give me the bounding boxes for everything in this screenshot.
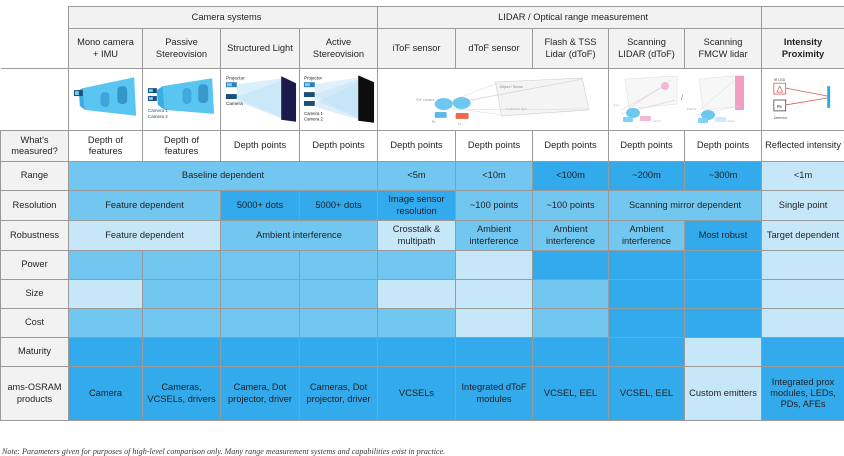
cell-power-intensity-proximity: [762, 251, 844, 280]
cell-products-flash-tss: VCSEL, EEL: [533, 367, 609, 421]
cell-whats-measured-passive-stereovision: Depth of features: [143, 131, 221, 162]
group-header-blank: [1, 7, 69, 29]
row-maturity: Maturity: [1, 338, 844, 367]
cell-cost-mono-camera: [69, 309, 143, 338]
cell-whats-measured-mono-camera: Depth of features: [69, 131, 143, 162]
column-header-scanning-lidar: Scanning LIDAR (dToF): [609, 29, 685, 69]
cell-size-structured-light: [221, 280, 300, 309]
column-header-passive-stereovision: Passive Stereovision: [143, 29, 221, 69]
cell-robustness-structured-active-pair: Ambient interference: [221, 221, 378, 251]
column-header-mono-camera-imu: Mono camera + IMU: [69, 29, 143, 69]
group-header-camera-systems: Camera systems: [69, 7, 378, 29]
cell-whats-measured-itof: Depth points: [378, 131, 456, 162]
row-label-resolution: Resolution: [1, 191, 69, 221]
cell-power-itof: [378, 251, 456, 280]
row-range: Range Baseline dependent <5m <10m <100m …: [1, 162, 844, 191]
itof-diagram: Object / Scene iToF camera Rx Tx: [378, 70, 608, 130]
cell-whats-measured-dtof: Depth points: [456, 131, 533, 162]
cell-cost-intensity-proximity: [762, 309, 844, 338]
cell-resolution-active-stereovision: 5000+ dots: [300, 191, 378, 221]
cell-range-itof: <5m: [378, 162, 456, 191]
row-resolution: Resolution Feature dependent 5000+ dots …: [1, 191, 844, 221]
cell-power-mono-camera: [69, 251, 143, 280]
cell-products-intensity-proximity: Integrated prox modules, LEDs, PDs, AFEs: [762, 367, 844, 421]
svg-text:iToF camera: iToF camera: [416, 97, 435, 101]
cell-size-fmcw: [685, 280, 762, 309]
svg-text:Camera 2: Camera 2: [304, 116, 324, 121]
cell-resolution-camera-pair: Feature dependent: [69, 191, 221, 221]
row-label-range: Range: [1, 162, 69, 191]
cell-range-intensity-proximity: <1m: [762, 162, 844, 191]
comparison-matrix-page: Camera systems LIDAR / Optical range mea…: [0, 0, 844, 456]
illustration-row: Camera 1 Camera 2 Projector Camera: [1, 69, 844, 131]
cell-robustness-dtof: Ambient interference: [456, 221, 533, 251]
intensity-proximity-diagram: IR LED Rx Detector: [762, 70, 844, 130]
row-label-maturity: Maturity: [1, 338, 69, 367]
svg-text:IR LED: IR LED: [774, 78, 786, 82]
row-ams-osram-products: ams-OSRAM products Camera Cameras, VCSEL…: [1, 367, 844, 421]
cell-cost-structured-light: [221, 309, 300, 338]
cell-cost-passive-stereovision: [143, 309, 221, 338]
cell-resolution-dtof: ~100 points: [456, 191, 533, 221]
cell-maturity-dtof: [456, 338, 533, 367]
mono-camera-diagram: [69, 70, 142, 130]
cell-cost-flash-tss: [533, 309, 609, 338]
column-header-flash-tss-lidar: Flash & TSS Lidar (dToF): [533, 29, 609, 69]
svg-text:Tx: Tx: [458, 121, 462, 125]
svg-text:Projector: Projector: [304, 75, 323, 80]
cell-size-active-stereovision: [300, 280, 378, 309]
svg-text:/: /: [681, 95, 683, 102]
svg-text:target: target: [727, 119, 735, 123]
svg-text:Detector: Detector: [774, 115, 788, 119]
illustration-itof-dtof-flash: Object / Scene iToF camera Rx Tx: [378, 69, 609, 131]
cell-maturity-intensity-proximity: [762, 338, 844, 367]
svg-text:Camera 2: Camera 2: [148, 113, 168, 118]
cell-robustness-fmcw: Most robust: [685, 221, 762, 251]
column-header-blank: [1, 29, 69, 69]
cell-whats-measured-fmcw: Depth points: [685, 131, 762, 162]
svg-text:scan: scan: [613, 103, 620, 107]
cell-whats-measured-flash-tss: Depth points: [533, 131, 609, 162]
cell-size-intensity-proximity: [762, 280, 844, 309]
cell-products-passive-stereovision: Cameras, VCSELs, drivers: [143, 367, 221, 421]
cell-robustness-scanning-lidar: Ambient interference: [609, 221, 685, 251]
group-header-intensity-spacer: [762, 7, 844, 29]
row-cost: Cost: [1, 309, 844, 338]
illustration-scanning-lidar-fmcw: scan mirror / FMCW target: [609, 69, 762, 131]
column-header-itof-sensor: iToF sensor: [378, 29, 456, 69]
cell-power-structured-light: [221, 251, 300, 280]
cell-maturity-fmcw: [685, 338, 762, 367]
row-robustness: Robustness Feature dependent Ambient int…: [1, 221, 844, 251]
cell-size-mono-camera: [69, 280, 143, 309]
cell-maturity-structured-light: [221, 338, 300, 367]
cell-power-scanning-lidar: [609, 251, 685, 280]
cell-size-scanning-lidar: [609, 280, 685, 309]
cell-cost-fmcw: [685, 309, 762, 338]
svg-text:Rx: Rx: [777, 103, 783, 108]
cell-robustness-flash-tss: Ambient interference: [533, 221, 609, 251]
footnote: Note: Parameters given for purposes of h…: [2, 447, 445, 456]
cell-size-dtof: [456, 280, 533, 309]
cell-products-structured-light: Camera, Dot projector, driver: [221, 367, 300, 421]
column-header-dtof-sensor: dToF sensor: [456, 29, 533, 69]
cell-power-active-stereovision: [300, 251, 378, 280]
cell-robustness-itof: Crosstalk & multipath: [378, 221, 456, 251]
cell-cost-active-stereovision: [300, 309, 378, 338]
row-label-cost: Cost: [1, 309, 69, 338]
cell-products-scanning-lidar: VCSEL, EEL: [609, 367, 685, 421]
group-header-row: Camera systems LIDAR / Optical range mea…: [1, 7, 844, 29]
cell-maturity-scanning-lidar: [609, 338, 685, 367]
cell-range-scanning-lidar: ~200m: [609, 162, 685, 191]
row-size: Size: [1, 280, 844, 309]
cell-products-active-stereovision: Cameras, Dot projector, driver: [300, 367, 378, 421]
column-header-intensity-proximity: Intensity Proximity: [762, 29, 844, 69]
row-label-robustness: Robustness: [1, 221, 69, 251]
illustration-mono-camera: [69, 69, 143, 131]
column-header-structured-light: Structured Light: [221, 29, 300, 69]
range-measurement-comparison-table: Camera systems LIDAR / Optical range mea…: [0, 6, 844, 421]
cell-maturity-flash-tss: [533, 338, 609, 367]
row-label-power: Power: [1, 251, 69, 280]
row-label-whats-measured: What's measured?: [1, 131, 69, 162]
svg-text:Object / Scene: Object / Scene: [499, 85, 522, 89]
svg-text:Camera 1: Camera 1: [304, 110, 324, 115]
svg-text:modulated light: modulated light: [505, 106, 527, 110]
row-whats-measured: What's measured? Depth of features Depth…: [1, 131, 844, 162]
cell-cost-itof: [378, 309, 456, 338]
row-label-ams-osram-products: ams-OSRAM products: [1, 367, 69, 421]
cell-robustness-intensity-proximity: Target dependent: [762, 221, 844, 251]
cell-size-itof: [378, 280, 456, 309]
column-header-row: Mono camera + IMU Passive Stereovision S…: [1, 29, 844, 69]
cell-power-flash-tss: [533, 251, 609, 280]
cell-robustness-camera-pair: Feature dependent: [69, 221, 221, 251]
cell-maturity-mono-camera: [69, 338, 143, 367]
cell-power-dtof: [456, 251, 533, 280]
column-header-active-stereovision: Active Stereovision: [300, 29, 378, 69]
cell-resolution-intensity-proximity: Single point: [762, 191, 844, 221]
cell-resolution-flash-tss: ~100 points: [533, 191, 609, 221]
row-power: Power: [1, 251, 844, 280]
illustration-blank: [1, 69, 69, 131]
svg-text:Camera 1: Camera 1: [148, 107, 168, 112]
row-label-size: Size: [1, 280, 69, 309]
cell-products-dtof: Integrated dToF modules: [456, 367, 533, 421]
cell-whats-measured-active-stereovision: Depth points: [300, 131, 378, 162]
illustration-passive-stereovision: Camera 1 Camera 2: [143, 69, 221, 131]
cell-products-mono-camera: Camera: [69, 367, 143, 421]
active-stereovision-diagram: Projector Camera 1 Camera 2: [300, 70, 377, 130]
scanning-lidar-diagram: scan mirror / FMCW target: [609, 70, 761, 130]
column-header-scanning-fmcw-lidar: Scanning FMCW lidar: [685, 29, 762, 69]
cell-power-fmcw: [685, 251, 762, 280]
cell-whats-measured-scanning-lidar: Depth points: [609, 131, 685, 162]
illustration-active-stereovision: Projector Camera 1 Camera 2: [300, 69, 378, 131]
svg-text:Rx: Rx: [432, 119, 436, 123]
illustration-intensity-proximity: IR LED Rx Detector: [762, 69, 844, 131]
illustration-structured-light: Projector Camera: [221, 69, 300, 131]
cell-whats-measured-intensity-proximity: Reflected intensity: [762, 131, 844, 162]
cell-power-passive-stereovision: [143, 251, 221, 280]
svg-text:mirror: mirror: [653, 119, 661, 123]
cell-resolution-structured-light: 5000+ dots: [221, 191, 300, 221]
cell-cost-dtof: [456, 309, 533, 338]
cell-resolution-itof: Image sensor resolution: [378, 191, 456, 221]
cell-products-fmcw: Custom emitters: [685, 367, 762, 421]
cell-size-flash-tss: [533, 280, 609, 309]
cell-range-fmcw: ~300m: [685, 162, 762, 191]
cell-maturity-active-stereovision: [300, 338, 378, 367]
passive-stereovision-diagram: Camera 1 Camera 2: [143, 70, 220, 130]
cell-range-dtof: <10m: [456, 162, 533, 191]
svg-text:Camera: Camera: [226, 100, 243, 106]
group-header-lidar-optical: LIDAR / Optical range measurement: [378, 7, 762, 29]
cell-resolution-scanning-pair: Scanning mirror dependent: [609, 191, 762, 221]
cell-range-flash-tss: <100m: [533, 162, 609, 191]
cell-range-camera-systems: Baseline dependent: [69, 162, 378, 191]
cell-size-passive-stereovision: [143, 280, 221, 309]
cell-whats-measured-structured-light: Depth points: [221, 131, 300, 162]
svg-text:FMCW: FMCW: [687, 107, 696, 111]
cell-cost-scanning-lidar: [609, 309, 685, 338]
structured-light-diagram: Projector Camera: [221, 70, 299, 130]
cell-products-itof: VCSELs: [378, 367, 456, 421]
cell-maturity-passive-stereovision: [143, 338, 221, 367]
svg-text:Projector: Projector: [226, 75, 245, 81]
cell-maturity-itof: [378, 338, 456, 367]
